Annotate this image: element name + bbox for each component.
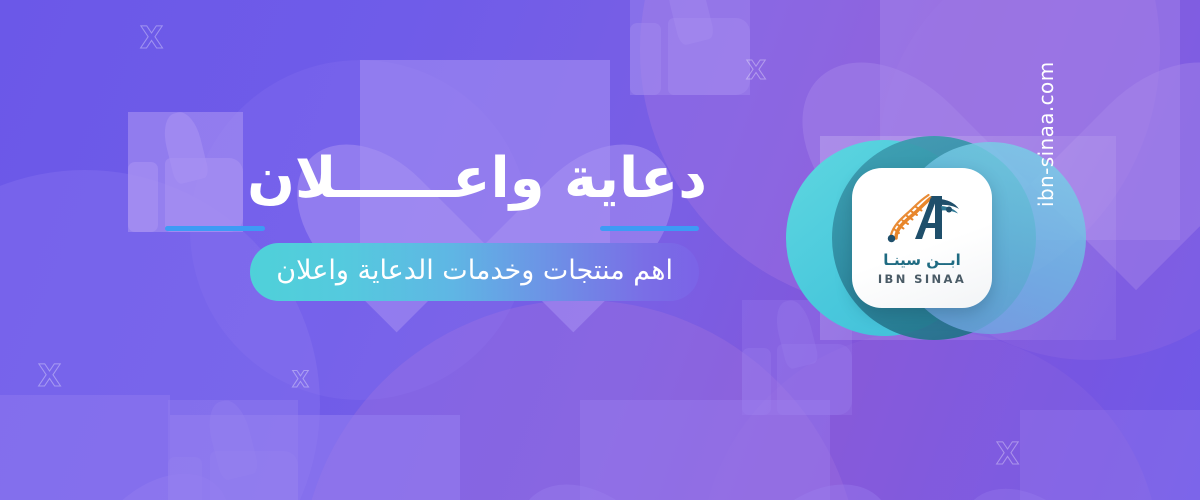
divider-line-right [600,226,699,231]
headline-block: دعاية واعــــــلان اهم منتجات وخدمات الد… [0,150,730,301]
divider-group [0,221,712,237]
logo-arabic-name: ابــن سينـا [883,251,961,269]
x-mark-icon-top-right: X [746,58,766,84]
x-mark-icon-bottom-mid: X [292,370,309,392]
page-title: دعاية واعــــــلان [0,150,712,209]
heart-shape-bottom-left [0,395,170,500]
x-mark-icon-top-left: X [140,24,163,54]
logo-latin-name: IBN SINAA [878,272,966,286]
ibn-sinaa-logo-mark [879,191,965,247]
logo-dot [888,234,896,242]
website-url[interactable]: ibn-sinaa.com [1034,7,1068,207]
promo-banner: X X X X X دعاية واعــــــلان اهم منتجات … [0,0,1200,500]
subtitle-pill: اهم منتجات وخدمات الدعاية واعلان [250,243,699,301]
thumbs-up-icon-top-right [630,0,750,95]
heart-shape-bottom-right [580,400,830,500]
divider-line-left [165,226,265,231]
thumbs-up-icon-bottom [168,400,298,500]
x-mark-icon-bottom-left: X [38,362,61,392]
x-mark-icon-bottom-right: X [996,440,1019,470]
heart-shape-right-edge [1020,410,1200,500]
brand-logo-tile: ابــن سينـا IBN SINAA [852,168,992,308]
